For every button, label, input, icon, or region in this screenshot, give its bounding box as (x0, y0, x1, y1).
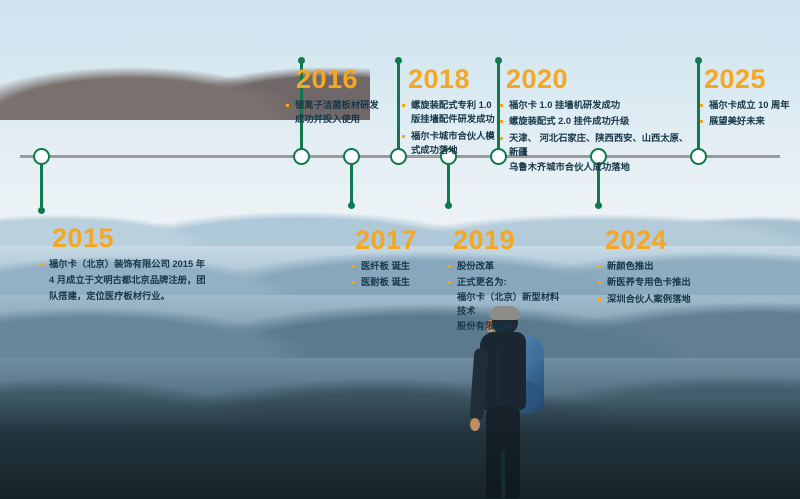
timeline-year-label-2020: 2020 (506, 66, 690, 93)
timeline-event-2020: 2020福尔卡 1.0 挂墙机研发成功螺旋装配式 2.0 挂件成功升级天津、 河… (500, 66, 690, 176)
timeline-event-2016: 2016银离子洁菌板材研发 成功并投入使用 (286, 66, 391, 129)
timeline-event-2019: 2019股份改革正式更名为: 福尔卡（北京）新型材料技术 股份有限公司 (448, 227, 566, 335)
timeline-year-label-2018: 2018 (408, 66, 504, 93)
timeline-event-2017: 2017医纤板 诞生医耐板 诞生 (352, 227, 452, 292)
timeline-bullets-2019: 股份改革正式更名为: 福尔卡（北京）新型材料技术 股份有限公司 (448, 259, 566, 333)
timeline-stem-dot-2019 (445, 202, 452, 209)
timeline-stem-dot-2017 (348, 202, 355, 209)
foreground-slope (0, 398, 800, 499)
timeline-event-2024: 2024新颜色推出新医养专用色卡推出深圳合伙人案例落地 (598, 227, 718, 308)
hiker-leg-gap (501, 450, 505, 498)
timeline-year-label-2019: 2019 (453, 227, 566, 254)
timeline-bullet-item: 银离子洁菌板材研发 成功并投入使用 (286, 98, 391, 127)
timeline-bullets-2020: 福尔卡 1.0 挂墙机研发成功螺旋装配式 2.0 挂件成功升级天津、 河北石家庄… (500, 98, 690, 174)
timeline-body-2015: 福尔卡（北京）装饰有限公司 2015 年 4 月成立于文明古都北京品牌注册，团 … (40, 257, 215, 305)
timeline-node-2016[interactable] (293, 148, 310, 165)
timeline-event-2015: 2015福尔卡（北京）装饰有限公司 2015 年 4 月成立于文明古都北京品牌注… (40, 225, 215, 305)
timeline-year-label-2016: 2016 (296, 66, 391, 93)
timeline-stem-dot-2025 (695, 57, 702, 64)
timeline-node-2017[interactable] (343, 148, 360, 165)
timeline-stem-dot-2018 (395, 57, 402, 64)
timeline-year-label-2024: 2024 (605, 227, 718, 254)
timeline-bullet-item: 深圳合伙人案例落地 (598, 292, 718, 306)
timeline-bullet-item: 股份改革 (448, 259, 566, 273)
timeline-event-2018: 2018螺旋装配式专利 1.0 版挂墙配件研发成功福尔卡城市合伙人模 式成功落地 (402, 66, 504, 160)
timeline-bullet-item: 医纤板 诞生 (352, 259, 452, 273)
timeline-bullets-2016: 银离子洁菌板材研发 成功并投入使用 (286, 98, 391, 127)
timeline-bullet-item: 正式更名为: 福尔卡（北京）新型材料技术 股份有限公司 (448, 275, 566, 333)
timeline-bullets-2018: 螺旋装配式专利 1.0 版挂墙配件研发成功福尔卡城市合伙人模 式成功落地 (402, 98, 504, 158)
backpack-strap (496, 344, 502, 406)
timeline-stem-dot-2015 (38, 207, 45, 214)
timeline-bullet-item: 天津、 河北石家庄、陕西西安、山西太原、新疆 乌鲁木齐城市合伙人成功落地 (500, 131, 690, 174)
timeline-event-2025: 2025福尔卡成立 10 周年展望美好未来 (700, 66, 800, 131)
timeline-stem-dot-2020 (495, 57, 502, 64)
timeline-bullets-2025: 福尔卡成立 10 周年展望美好未来 (700, 98, 800, 129)
timeline-bullet-item: 医耐板 诞生 (352, 275, 452, 289)
timeline-bullet-item: 展望美好未来 (700, 114, 800, 128)
timeline-year-label-2015: 2015 (52, 225, 215, 252)
timeline-infographic: 2015福尔卡（北京）装饰有限公司 2015 年 4 月成立于文明古都北京品牌注… (0, 0, 800, 499)
timeline-stem-dot-2024 (595, 202, 602, 209)
timeline-year-label-2025: 2025 (704, 66, 800, 93)
timeline-bullet-item: 螺旋装配式专利 1.0 版挂墙配件研发成功 (402, 98, 504, 127)
hiker-hand (470, 418, 480, 431)
timeline-year-label-2017: 2017 (355, 227, 452, 254)
timeline-bullets-2017: 医纤板 诞生医耐板 诞生 (352, 259, 452, 290)
timeline-bullet-item: 新医养专用色卡推出 (598, 275, 718, 289)
timeline-bullet-item: 福尔卡成立 10 周年 (700, 98, 800, 112)
timeline-bullet-item: 新颜色推出 (598, 259, 718, 273)
timeline-node-2015[interactable] (33, 148, 50, 165)
timeline-node-2025[interactable] (690, 148, 707, 165)
timeline-bullet-item: 福尔卡城市合伙人模 式成功落地 (402, 129, 504, 158)
timeline-stem-2018 (397, 60, 400, 155)
timeline-bullets-2024: 新颜色推出新医养专用色卡推出深圳合伙人案例落地 (598, 259, 718, 306)
timeline-bullet-item: 螺旋装配式 2.0 挂件成功升级 (500, 114, 690, 128)
timeline-bullet-item: 福尔卡 1.0 挂墙机研发成功 (500, 98, 690, 112)
timeline-stem-dot-2016 (298, 57, 305, 64)
